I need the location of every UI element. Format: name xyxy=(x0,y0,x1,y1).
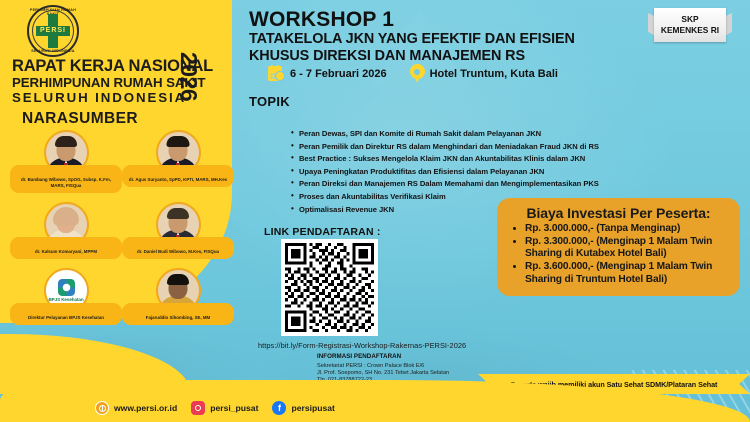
facebook-icon: f xyxy=(272,401,286,415)
price-item: Rp. 3.000.000,- (Tanpa Menginap) xyxy=(525,223,732,235)
price-list: Rp. 3.000.000,- (Tanpa Menginap) Rp. 3.3… xyxy=(505,223,732,286)
skp-badge-text: SKP KEMENKES RI xyxy=(654,14,726,35)
speaker-name-text: dr. Kalsum Komaryani, MPPM xyxy=(15,241,117,255)
social-website[interactable]: www.persi.or.id xyxy=(95,401,177,415)
bpjs-mark-icon xyxy=(58,279,75,296)
map-pin-icon xyxy=(410,64,425,83)
speaker-name: dr. Agus Suryanto, SpPD, KPTI, MARS, MH.… xyxy=(122,165,234,187)
event-date: 6 - 7 Februari 2026 xyxy=(268,66,387,82)
workshop-label: WORKSHOP 1 xyxy=(249,9,575,31)
topik-item: Peran Pemilik dan Direktur RS dalam Meng… xyxy=(291,142,601,151)
speaker-name-text: Direktur Pelayanan BPJS Kesehatan xyxy=(15,307,117,321)
event-date-text: 6 - 7 Februari 2026 xyxy=(290,68,387,80)
registration-link-heading: LINK PENDAFTARAN : xyxy=(264,226,381,238)
registration-url[interactable]: https://bit.ly/Form-Registrasi-Workshop-… xyxy=(258,341,466,350)
workshop-subtitle-line1: TATAKELOLA JKN YANG EFEKTIF DAN EFISIEN xyxy=(249,31,575,48)
speaker-card: dr. Kalsum Komaryani, MPPM xyxy=(10,202,122,259)
speaker-card: dr. Agus Suryanto, SpPD, KPTI, MARS, MH.… xyxy=(122,130,234,193)
social-website-label: www.persi.or.id xyxy=(114,403,177,413)
social-links: www.persi.or.id persi_pusat f persipusat xyxy=(95,401,335,415)
skp-badge-line1: SKP xyxy=(654,14,726,25)
registration-info-line1: Sekretariat PERSI : Crown Palace Blok E/… xyxy=(317,363,517,370)
price-item: Rp. 3.300.000,- (Menginap 1 Malam Twin S… xyxy=(525,236,732,261)
event-venue-text: Hotel Truntum, Kuta Bali xyxy=(430,68,558,80)
speakers-row-1: dr. Bambang Wibowo, SpOG, Subsp. K.Fm, M… xyxy=(10,130,234,193)
social-instagram[interactable]: persi_pusat xyxy=(191,401,258,415)
price-item: Rp. 3.600.000,- (Menginap 1 Malam Twin S… xyxy=(525,261,732,286)
poster-root: PERHIMPUNAN RUMAH SAKIT PERSI SELURUH IN… xyxy=(0,0,750,422)
topik-item: Peran Direksi dan Manajemen RS Dalam Mem… xyxy=(291,179,601,188)
speaker-name-text: Fajaruddin Sihombing, SE, MM xyxy=(127,307,229,321)
price-title: Biaya Investasi Per Peserta: xyxy=(505,205,732,221)
speakers-row-2: dr. Kalsum Komaryani, MPPM dr. Daniel Bu… xyxy=(10,202,234,259)
speaker-name-text: dr. Agus Suryanto, SpPD, KPTI, MARS, MH.… xyxy=(127,169,229,183)
speakers-grid: dr. Bambang Wibowo, SpOG, Subsp. K.Fm, M… xyxy=(10,130,234,325)
logo-arc-bottom-text: SELURUH INDONESIA xyxy=(27,49,79,53)
event-meta-row: 6 - 7 Februari 2026 Hotel Truntum, Kuta … xyxy=(268,64,558,83)
speaker-card: dr. Bambang Wibowo, SpOG, Subsp. K.Fm, M… xyxy=(10,130,122,193)
event-venue: Hotel Truntum, Kuta Bali xyxy=(410,64,558,83)
speaker-card: dr. Daniel Budi Wibowo, M.Kes, FISQua xyxy=(122,202,234,259)
skp-badge: SKP KEMENKES RI xyxy=(648,5,732,45)
social-facebook-label: persipusat xyxy=(291,403,334,413)
price-box: Biaya Investasi Per Peserta: Rp. 3.000.0… xyxy=(497,198,740,296)
persi-logo: PERHIMPUNAN RUMAH SAKIT PERSI SELURUH IN… xyxy=(22,3,84,59)
speaker-name: dr. Daniel Budi Wibowo, M.Kes, FISQua xyxy=(122,237,234,259)
workshop-title-block: WORKSHOP 1 TATAKELOLA JKN YANG EFEKTIF D… xyxy=(249,9,575,64)
topik-item: Upaya Peningkatan Produktifitas dan Efis… xyxy=(291,167,601,176)
social-facebook[interactable]: f persipusat xyxy=(272,401,334,415)
globe-icon xyxy=(95,401,109,415)
speaker-name-text: dr. Bambang Wibowo, SpOG, Subsp. K.Fm, M… xyxy=(15,169,117,189)
social-instagram-label: persi_pusat xyxy=(210,403,258,413)
logo-mark-text: PERSI xyxy=(37,27,69,35)
bpjs-logo-text: BPJS Kesehatan xyxy=(48,297,83,302)
instagram-icon xyxy=(191,401,205,415)
speaker-name: Direktur Pelayanan BPJS Kesehatan xyxy=(10,303,122,325)
event-year: 2026 xyxy=(175,52,202,101)
speaker-card: Fajaruddin Sihombing, SE, MM xyxy=(122,268,234,325)
topik-item: Best Practice : Sukses Mengelola Klaim J… xyxy=(291,154,601,163)
speaker-name: Fajaruddin Sihombing, SE, MM xyxy=(122,303,234,325)
speakers-row-3: BPJS Kesehatan Direktur Pelayanan BPJS K… xyxy=(10,268,234,325)
speaker-name: dr. Kalsum Komaryani, MPPM xyxy=(10,237,122,259)
calendar-clock-icon xyxy=(268,66,285,82)
registration-qr-code[interactable] xyxy=(281,239,378,336)
speaker-name: dr. Bambang Wibowo, SpOG, Subsp. K.Fm, M… xyxy=(10,165,122,193)
registration-info-heading: INFORMASI PENDAFTARAN xyxy=(317,353,517,360)
topik-item: Peran Dewas, SPI dan Komite di Rumah Sak… xyxy=(291,129,601,138)
speaker-name-text: dr. Daniel Budi Wibowo, M.Kes, FISQua xyxy=(127,241,229,255)
speaker-card: BPJS Kesehatan Direktur Pelayanan BPJS K… xyxy=(10,268,122,325)
workshop-subtitle-line2: KHUSUS DIREKSI DAN MANAJEMEN RS xyxy=(249,48,575,65)
topik-heading: TOPIK xyxy=(249,94,290,109)
speakers-heading: NARASUMBER xyxy=(22,110,138,128)
qr-code-icon xyxy=(285,243,374,332)
skp-badge-line2: KEMENKES RI xyxy=(654,25,726,36)
